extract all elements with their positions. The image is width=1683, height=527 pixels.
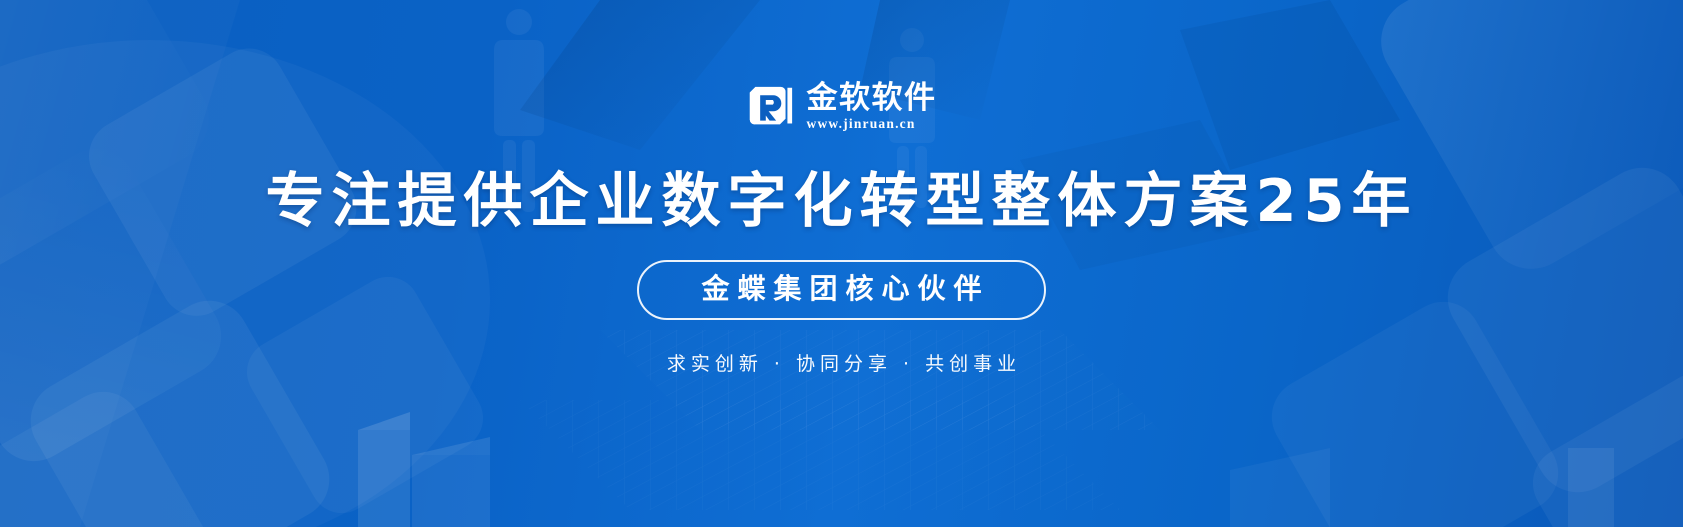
promotional-banner: 金软软件 www.jinruan.cn 专注提供企业数字化转型整体方案25年 金… <box>0 0 1683 527</box>
partner-badge: 金蝶集团核心伙伴 <box>637 260 1045 320</box>
rounded-square-r-logo-icon <box>747 84 794 131</box>
banner-content: 金软软件 www.jinruan.cn 专注提供企业数字化转型整体方案25年 金… <box>0 0 1683 527</box>
logo: 金软软件 www.jinruan.cn <box>747 78 937 136</box>
headline: 专注提供企业数字化转型整体方案25年 <box>265 169 1417 233</box>
tagline: 求实创新 · 协同分享 · 共创事业 <box>662 349 1021 376</box>
logo-text: 金软软件 www.jinruan.cn <box>807 82 937 133</box>
company-name: 金软软件 <box>807 82 937 115</box>
company-website: www.jinruan.cn <box>807 116 937 132</box>
